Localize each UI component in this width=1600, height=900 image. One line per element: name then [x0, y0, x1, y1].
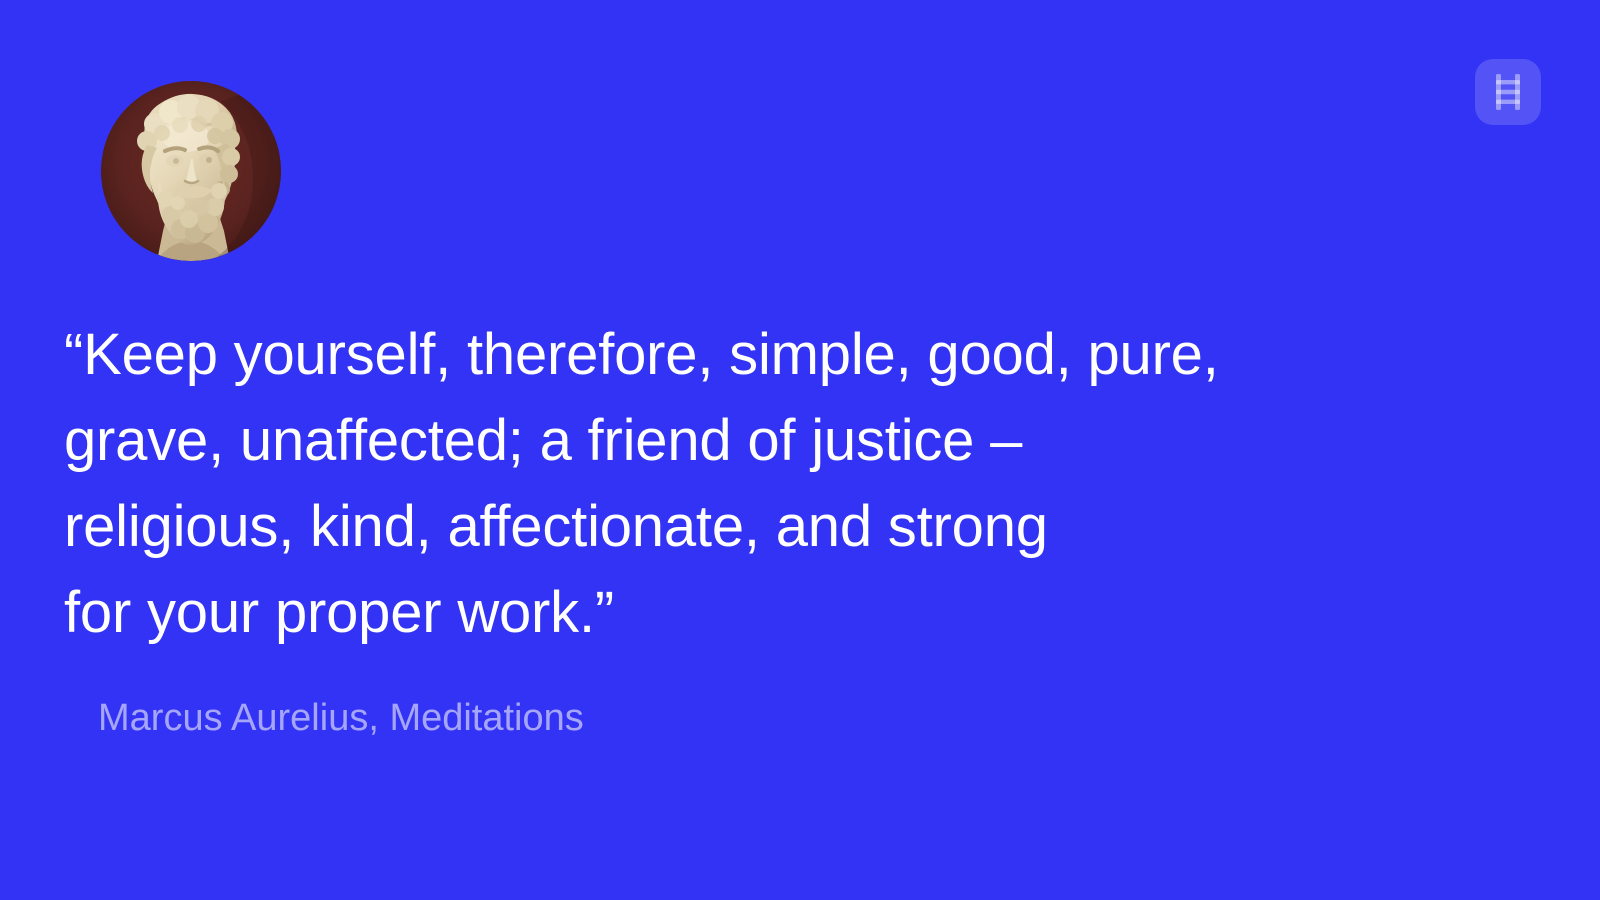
- avatar-bust-illustration: [101, 81, 281, 261]
- avatar: [101, 81, 281, 261]
- quote-attribution: Marcus Aurelius, Meditations: [98, 694, 584, 742]
- ladder-icon: [1492, 73, 1524, 111]
- quote-block: “Keep yourself, therefore, simple, good,…: [64, 312, 1404, 656]
- ladder-button[interactable]: [1475, 59, 1541, 125]
- quote-text: “Keep yourself, therefore, simple, good,…: [64, 312, 1404, 656]
